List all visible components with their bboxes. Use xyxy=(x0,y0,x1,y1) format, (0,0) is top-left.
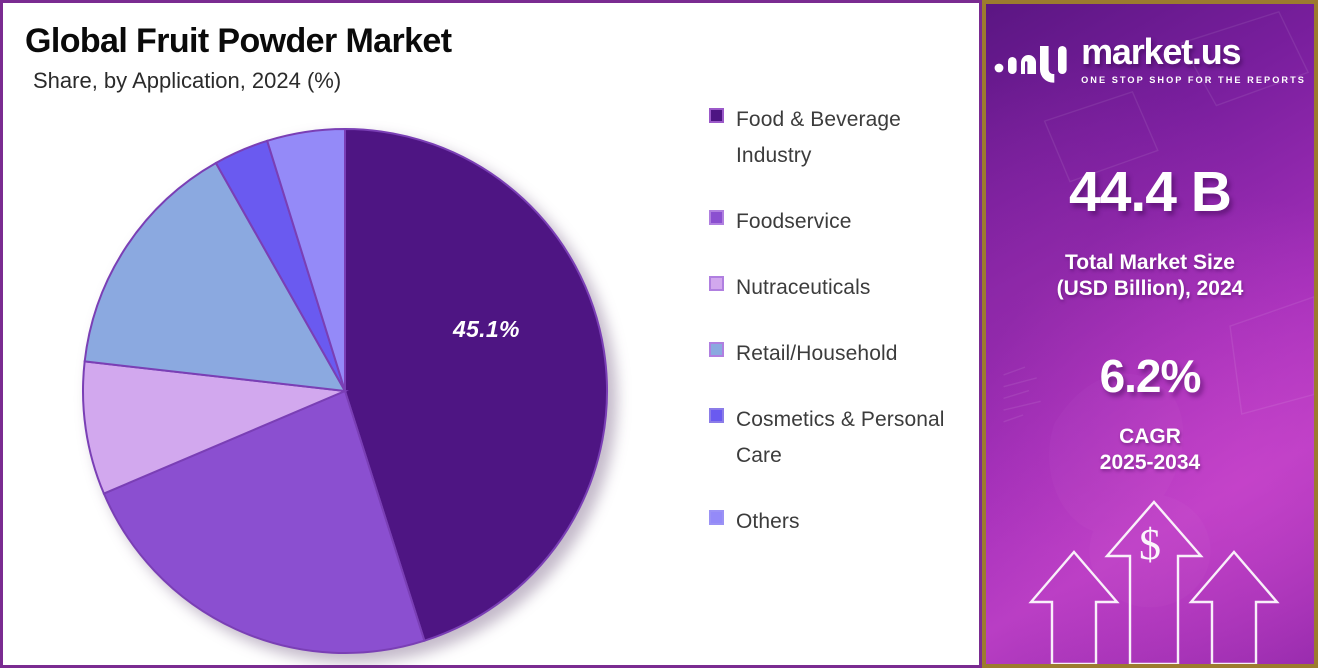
legend-swatch-icon xyxy=(709,408,724,423)
logo-wordmark: market.us xyxy=(1081,34,1240,70)
legend-item[interactable]: Foodservice xyxy=(709,204,971,240)
total-market-size-value: 44.4 B xyxy=(986,159,1314,225)
legend-swatch-icon xyxy=(709,108,724,123)
pie-slices xyxy=(81,127,617,663)
legend-swatch-icon xyxy=(709,276,724,291)
legend-item[interactable]: Food & Beverage Industry xyxy=(709,102,971,174)
infographic-root: Global Fruit Powder Market Share, by App… xyxy=(0,0,1318,668)
legend-item[interactable]: Nutraceuticals xyxy=(709,270,971,306)
logo-text: market.us ONE STOP SHOP FOR THE REPORTS xyxy=(1081,34,1306,85)
title-block: Global Fruit Powder Market Share, by App… xyxy=(25,23,451,94)
market-caption-line-1: Total Market Size xyxy=(986,250,1314,276)
logo-tagline: ONE STOP SHOP FOR THE REPORTS xyxy=(1081,75,1306,85)
legend-item[interactable]: Retail/Household xyxy=(709,336,971,372)
legend-item-label: Nutraceuticals xyxy=(736,270,870,306)
market-us-logo: market.us ONE STOP SHOP FOR THE REPORTS xyxy=(986,34,1314,85)
legend-item-label: Foodservice xyxy=(736,204,851,240)
cagr-value: 6.2% xyxy=(986,349,1314,403)
chart-subtitle: Share, by Application, 2024 (%) xyxy=(33,68,451,94)
page-title: Global Fruit Powder Market xyxy=(25,23,451,60)
legend-swatch-icon xyxy=(709,510,724,525)
growth-arrows-icon xyxy=(986,464,1318,664)
chart-legend: Food & Beverage IndustryFoodserviceNutra… xyxy=(709,102,971,559)
legend-item-label: Food & Beverage Industry xyxy=(736,102,971,174)
market-us-logo-mark xyxy=(994,37,1072,83)
legend-item[interactable]: Cosmetics & Personal Care xyxy=(709,402,971,474)
chart-panel: Global Fruit Powder Market Share, by App… xyxy=(0,0,982,668)
stat-panel-content: market.us ONE STOP SHOP FOR THE REPORTS … xyxy=(986,4,1314,664)
legend-item-label: Cosmetics & Personal Care xyxy=(736,402,971,474)
stat-panel: market.us ONE STOP SHOP FOR THE REPORTS … xyxy=(982,0,1318,668)
cagr-caption-line-1: CAGR xyxy=(986,424,1314,450)
legend-item[interactable]: Others xyxy=(709,504,971,540)
pie-chart: 45.1% xyxy=(81,127,617,663)
total-market-size-caption: Total Market Size (USD Billion), 2024 xyxy=(986,250,1314,303)
pie-data-label: 45.1% xyxy=(453,316,520,343)
legend-swatch-icon xyxy=(709,342,724,357)
legend-item-label: Retail/Household xyxy=(736,336,898,372)
legend-swatch-icon xyxy=(709,210,724,225)
market-caption-line-2: (USD Billion), 2024 xyxy=(986,276,1314,302)
legend-item-label: Others xyxy=(736,504,800,540)
